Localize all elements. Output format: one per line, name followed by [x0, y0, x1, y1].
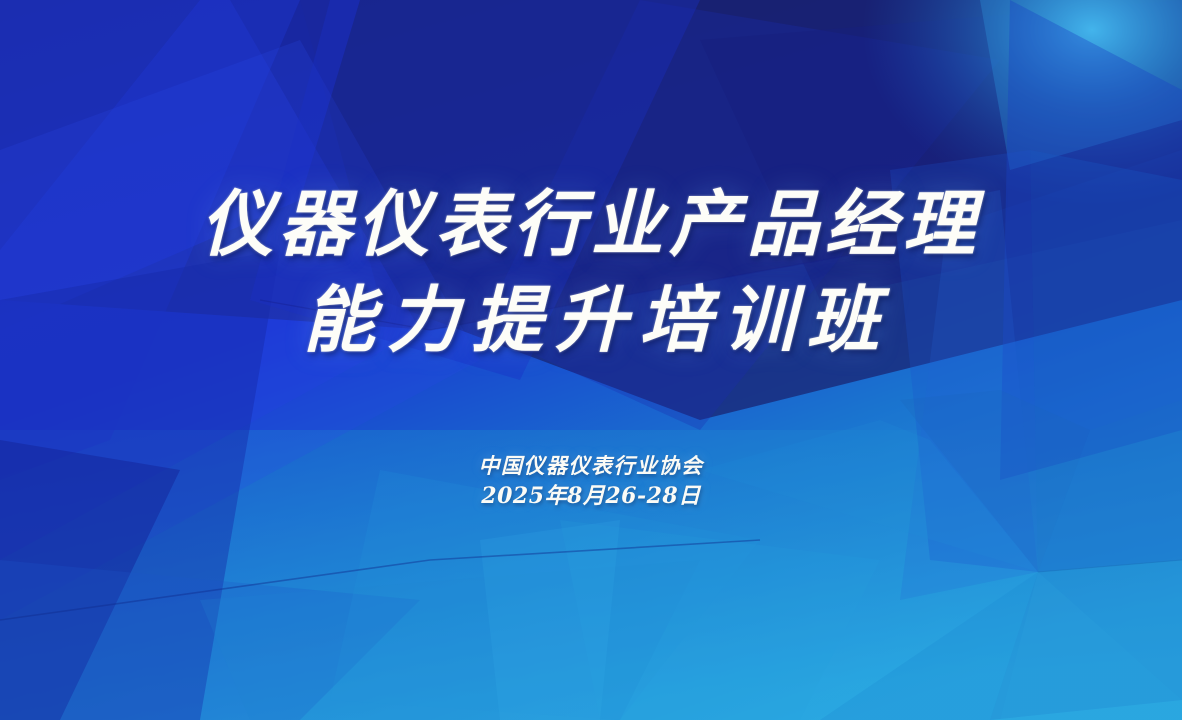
banner-content: 仪器仪表行业产品经理 能力提升培训班 中国仪器仪表行业协会 2025年8月26-… [0, 0, 1182, 720]
title-line-1: 仪器仪表行业产品经理 [0, 176, 1182, 272]
banner-subtitle: 中国仪器仪表行业协会 2025年8月26-28日 [0, 450, 1182, 512]
banner-title: 仪器仪表行业产品经理 能力提升培训班 [0, 176, 1182, 368]
conference-title-banner: 仪器仪表行业产品经理 能力提升培训班 中国仪器仪表行业协会 2025年8月26-… [0, 0, 1182, 720]
organizer-name: 中国仪器仪表行业协会 [0, 450, 1182, 481]
event-dates: 2025年8月26-28日 [0, 481, 1182, 512]
title-line-2: 能力提升培训班 [0, 272, 1182, 368]
